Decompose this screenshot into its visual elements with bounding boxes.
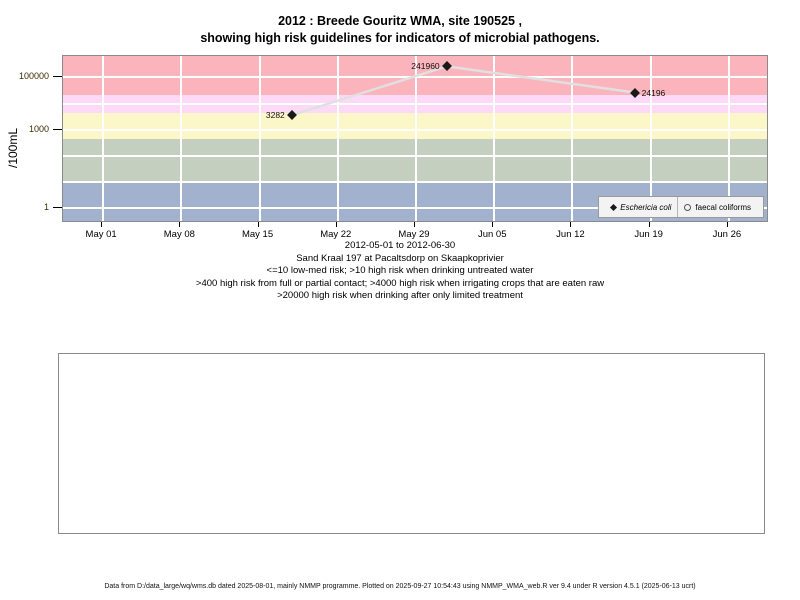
title-line-1: 2012 : Breede Gouritz WMA, site 190525 , — [0, 13, 800, 30]
filled-diamond-icon — [610, 203, 617, 210]
caption-guideline-3: >20000 high risk when drinking after onl… — [0, 290, 800, 303]
x-axis-tick-label: Jun 05 — [478, 229, 507, 240]
empty-content-panel — [58, 353, 765, 534]
chart-captions: 2012-05-01 to 2012-06-30 Sand Kraal 197 … — [0, 240, 800, 303]
x-axis-tick-label: May 22 — [320, 229, 351, 240]
data-point-label: 24196 — [642, 88, 666, 98]
page-title: 2012 : Breede Gouritz WMA, site 190525 ,… — [0, 13, 800, 47]
open-circle-icon — [684, 204, 691, 211]
caption-site: Sand Kraal 197 at Pacaltsdorp on Skaapko… — [0, 253, 800, 266]
x-axis-tick-label: May 08 — [164, 229, 195, 240]
x-axis-tick-label: May 01 — [86, 229, 117, 240]
x-axis-tick — [101, 222, 102, 227]
y-axis-tick-label: 1000 — [0, 124, 49, 134]
x-axis-tick-label: Jun 26 — [713, 229, 742, 240]
caption-guideline-1: <=10 low-med risk; >10 high risk when dr… — [0, 265, 800, 278]
y-axis-tick — [53, 76, 62, 77]
x-axis-tick — [258, 222, 259, 227]
x-axis-tick — [179, 222, 180, 227]
legend-item: faecal coliforms — [678, 203, 757, 212]
x-axis-tick — [336, 222, 337, 227]
y-axis-label: /100mL — [6, 128, 20, 168]
x-axis-tick — [570, 222, 571, 227]
y-axis-tick — [53, 129, 62, 130]
caption-date-range: 2012-05-01 to 2012-06-30 — [0, 240, 800, 253]
x-axis-tick-label: Jun 12 — [556, 229, 585, 240]
x-axis-tick-label: May 29 — [398, 229, 429, 240]
legend-item: Eschericia coli — [605, 203, 677, 212]
x-axis-tick — [727, 222, 728, 227]
y-axis-tick-label: 100000 — [0, 71, 49, 81]
x-axis-tick — [649, 222, 650, 227]
chart-container: /100mL 328224196024196 Eschericia colifa… — [0, 50, 800, 235]
y-axis-tick — [53, 207, 62, 208]
data-point-label: 3282 — [266, 110, 285, 120]
legend-item-label: faecal coliforms — [695, 203, 751, 212]
footer-note: Data from D:/data_large/wq/wms.db dated … — [0, 583, 800, 590]
x-axis-tick-label: May 15 — [242, 229, 273, 240]
chart-legend: Eschericia colifaecal coliforms — [598, 196, 764, 218]
plot-area: 328224196024196 Eschericia colifaecal co… — [62, 55, 768, 222]
x-axis-tick — [414, 222, 415, 227]
x-axis-tick — [492, 222, 493, 227]
caption-guideline-2: >400 high risk from full or partial cont… — [0, 278, 800, 291]
title-line-2: showing high risk guidelines for indicat… — [0, 30, 800, 47]
y-axis-tick-label: 1 — [0, 202, 49, 212]
legend-item-label: Eschericia coli — [620, 203, 671, 212]
x-axis-tick-label: Jun 19 — [634, 229, 663, 240]
data-point-label: 241960 — [411, 61, 439, 71]
